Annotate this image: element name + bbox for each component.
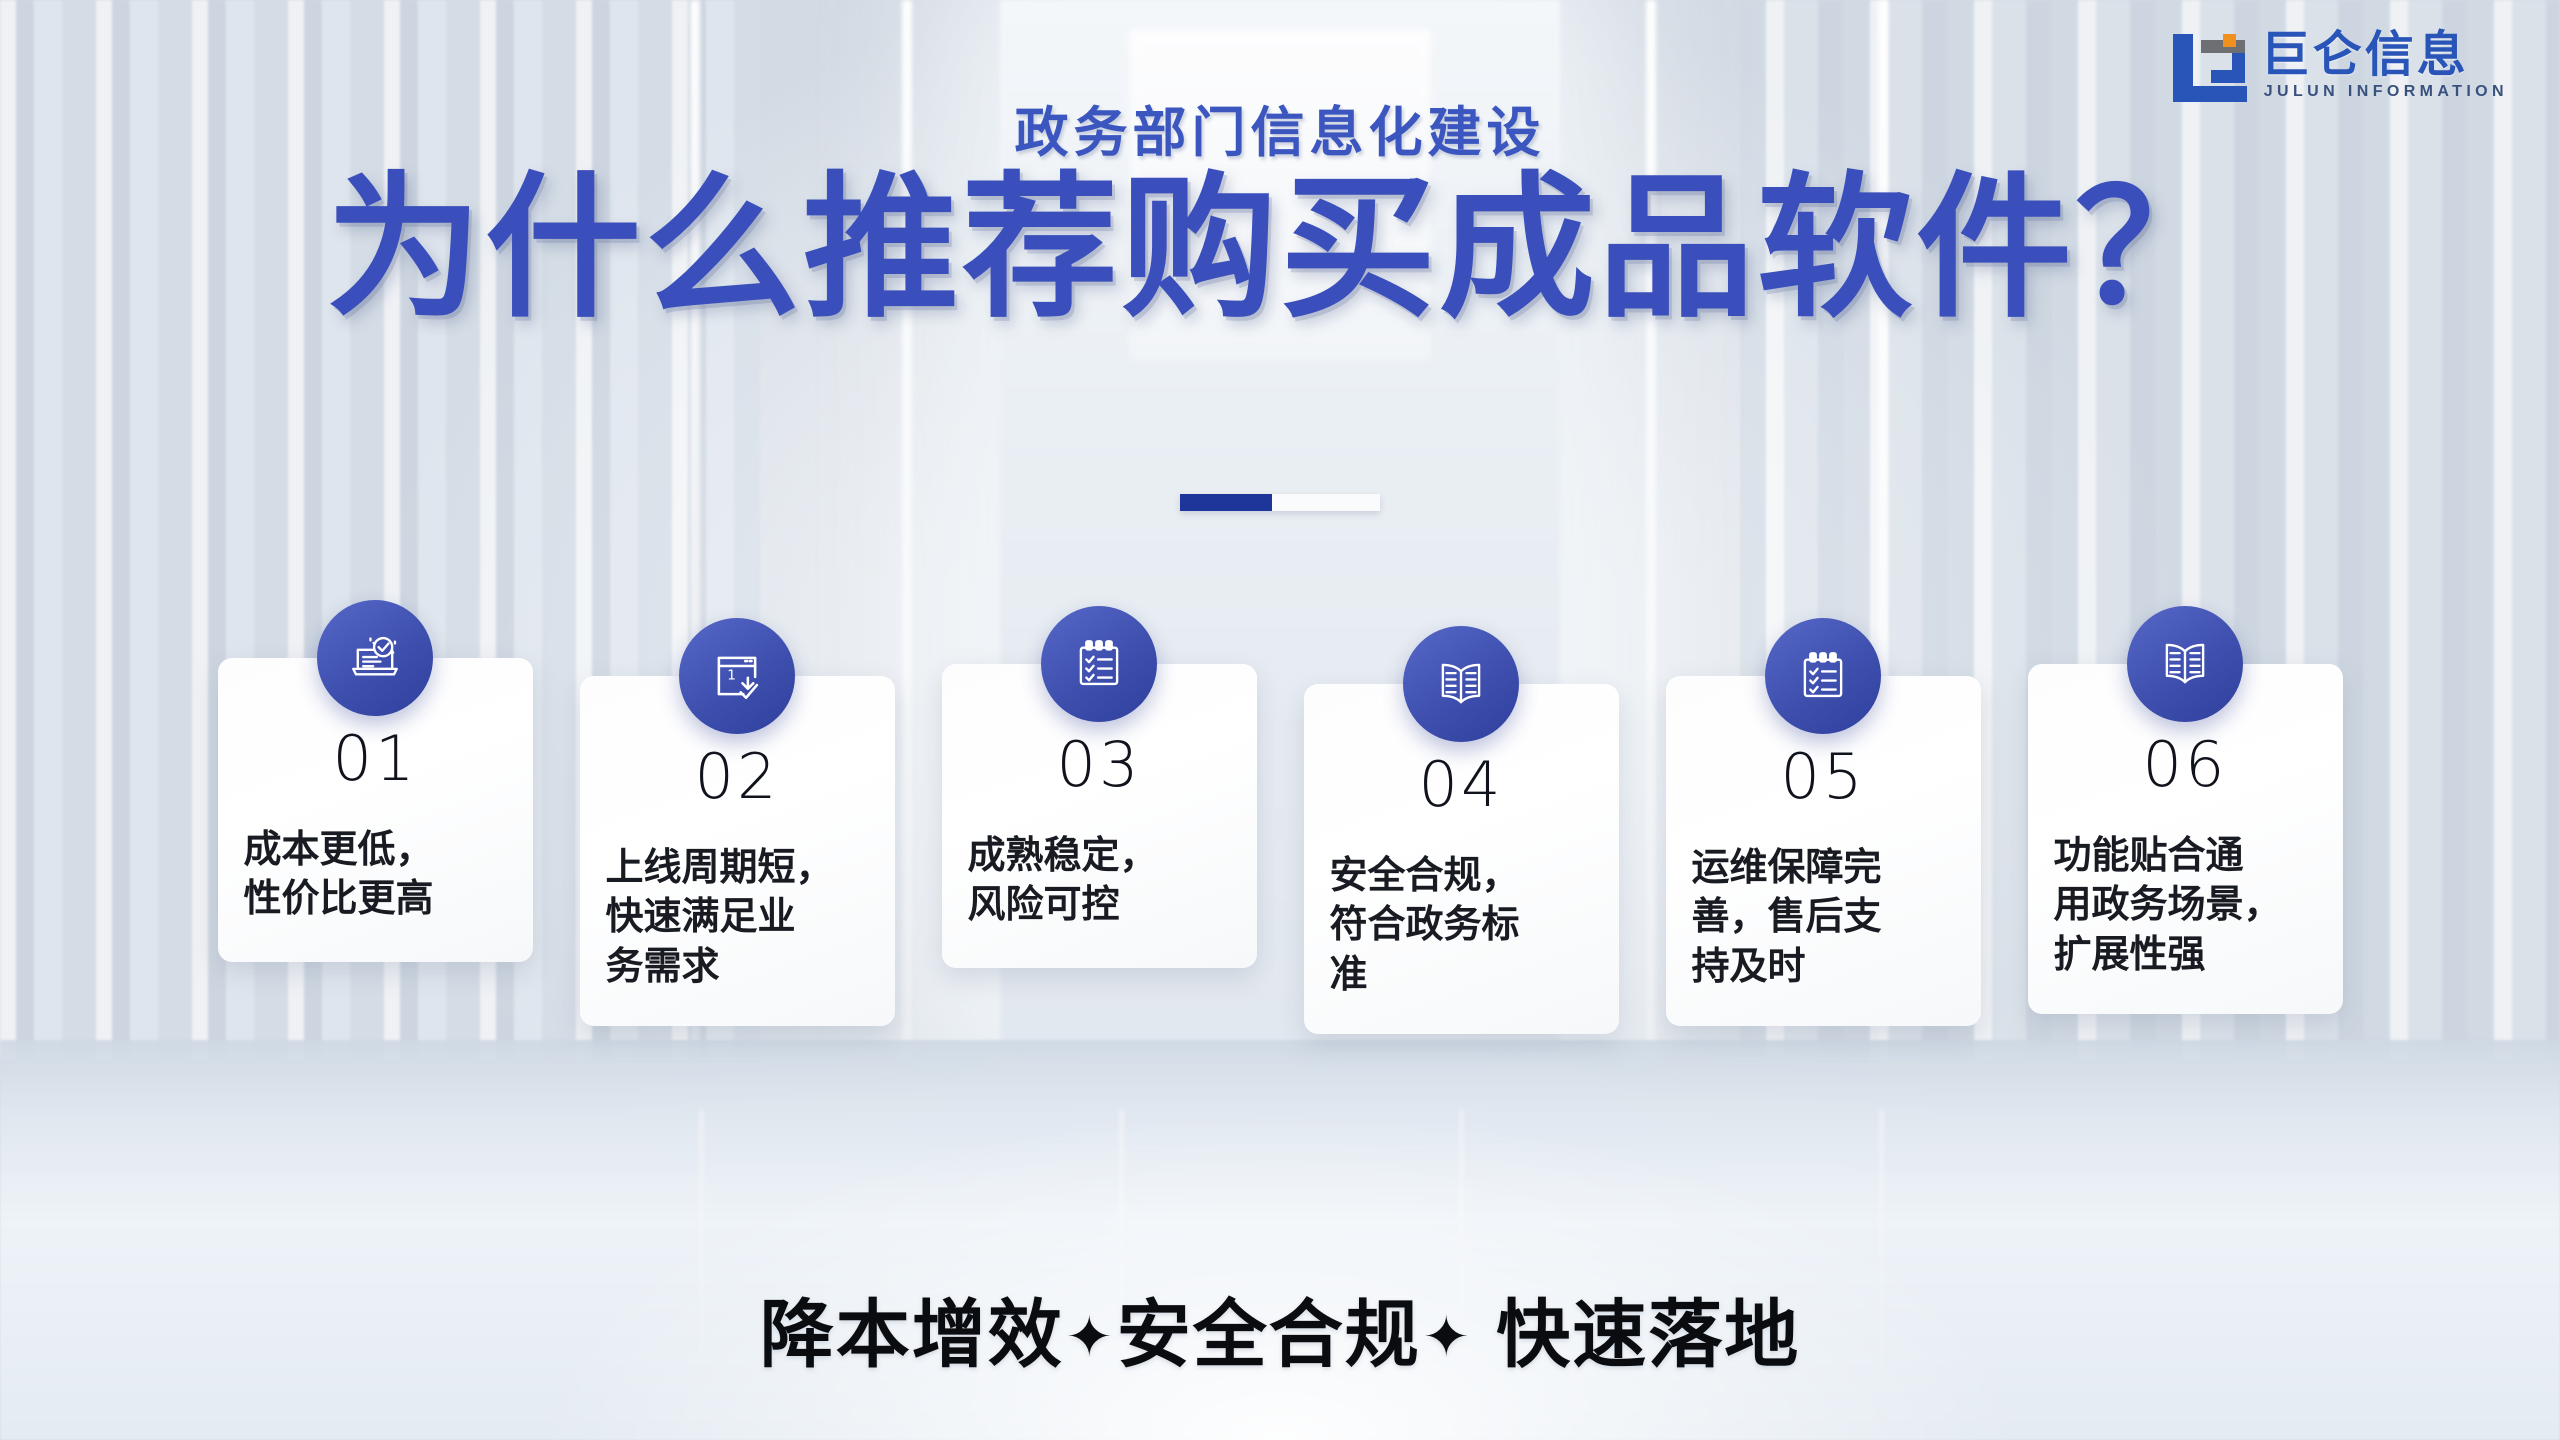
feature-card-text-line: 运维保障完 bbox=[1692, 844, 1955, 893]
feature-card-06[interactable]: 06功能贴合通用政务场景，扩展性强 bbox=[2028, 606, 2343, 1014]
svg-text:1: 1 bbox=[727, 668, 736, 684]
feature-card-text-line: 准 bbox=[1330, 951, 1593, 1000]
open-book-icon bbox=[2127, 606, 2243, 722]
feature-card-text-line: 善，售后支 bbox=[1692, 893, 1955, 942]
feature-card-text-line: 务需求 bbox=[606, 943, 869, 992]
tagline-part-2: 安全合规 bbox=[1117, 1293, 1421, 1376]
feature-card-text-line: 快速满足业 bbox=[606, 893, 869, 942]
window-download-check-icon: 1 bbox=[679, 618, 795, 734]
title-divider bbox=[1180, 494, 1380, 511]
feature-card-text: 上线周期短，快速满足业务需求 bbox=[606, 844, 869, 992]
divider-light-segment bbox=[1272, 494, 1380, 511]
open-book-icon bbox=[1403, 626, 1519, 742]
feature-card-list: 01成本更低，性价比更高 1 02上线周期短，快速满足业务需求 03成熟稳定，风… bbox=[0, 600, 2560, 1034]
feature-card-04[interactable]: 04安全合规，符合政务标准 bbox=[1304, 626, 1619, 1034]
diamond-separator-icon: ✦ bbox=[1066, 1305, 1115, 1368]
page-title: 为什么推荐购买成品软件？ bbox=[0, 160, 2560, 339]
feature-card-text: 成熟稳定，风险可控 bbox=[968, 832, 1231, 931]
tagline-part-3: 快速落地 bbox=[1474, 1293, 1801, 1376]
feature-card-01[interactable]: 01成本更低，性价比更高 bbox=[218, 600, 533, 962]
feature-card-text-line: 成熟稳定， bbox=[968, 832, 1231, 881]
checklist-notepad-icon bbox=[1765, 618, 1881, 734]
feature-card-text: 安全合规，符合政务标准 bbox=[1330, 852, 1593, 1000]
feature-card-number: 01 bbox=[244, 728, 507, 790]
logo-company-name-cn: 巨仑信息 bbox=[2261, 30, 2508, 81]
page-subtitle: 政务部门信息化建设 bbox=[0, 88, 2560, 167]
diamond-separator-icon: ✦ bbox=[1423, 1305, 1472, 1368]
feature-card-number: 04 bbox=[1330, 754, 1593, 816]
feature-card-number: 06 bbox=[2054, 734, 2317, 796]
feature-card-05[interactable]: 05运维保障完善，售后支持及时 bbox=[1666, 618, 1981, 1026]
feature-card-text-line: 持及时 bbox=[1692, 943, 1955, 992]
feature-card-text-line: 功能贴合通 bbox=[2054, 832, 2317, 881]
feature-card-text: 功能贴合通用政务场景，扩展性强 bbox=[2054, 832, 2317, 980]
feature-card-text-line: 成本更低， bbox=[244, 826, 507, 875]
feature-card-number: 03 bbox=[968, 734, 1231, 796]
feature-card-text-line: 安全合规， bbox=[1330, 852, 1593, 901]
divider-blue-segment bbox=[1180, 494, 1272, 511]
checklist-notepad-icon bbox=[1041, 606, 1157, 722]
feature-card-text-line: 风险可控 bbox=[968, 881, 1231, 930]
feature-card-text-line: 性价比更高 bbox=[244, 875, 507, 924]
footer-tagline: 降本增效✦安全合规✦ 快速落地 bbox=[0, 1275, 2560, 1382]
feature-card-text-line: 上线周期短， bbox=[606, 844, 869, 893]
tagline-part-1: 降本增效 bbox=[760, 1293, 1064, 1376]
feature-card-number: 02 bbox=[606, 746, 869, 808]
feature-card-text-line: 扩展性强 bbox=[2054, 931, 2317, 980]
feature-card-text: 成本更低，性价比更高 bbox=[244, 826, 507, 925]
feature-card-02[interactable]: 1 02上线周期短，快速满足业务需求 bbox=[580, 618, 895, 1026]
feature-card-text: 运维保障完善，售后支持及时 bbox=[1692, 844, 1955, 992]
feature-card-number: 05 bbox=[1692, 746, 1955, 808]
feature-card-03[interactable]: 03成熟稳定，风险可控 bbox=[942, 606, 1257, 968]
feature-card-text-line: 符合政务标 bbox=[1330, 901, 1593, 950]
feature-card-text-line: 用政务场景， bbox=[2054, 881, 2317, 930]
laptop-check-icon bbox=[317, 600, 433, 716]
